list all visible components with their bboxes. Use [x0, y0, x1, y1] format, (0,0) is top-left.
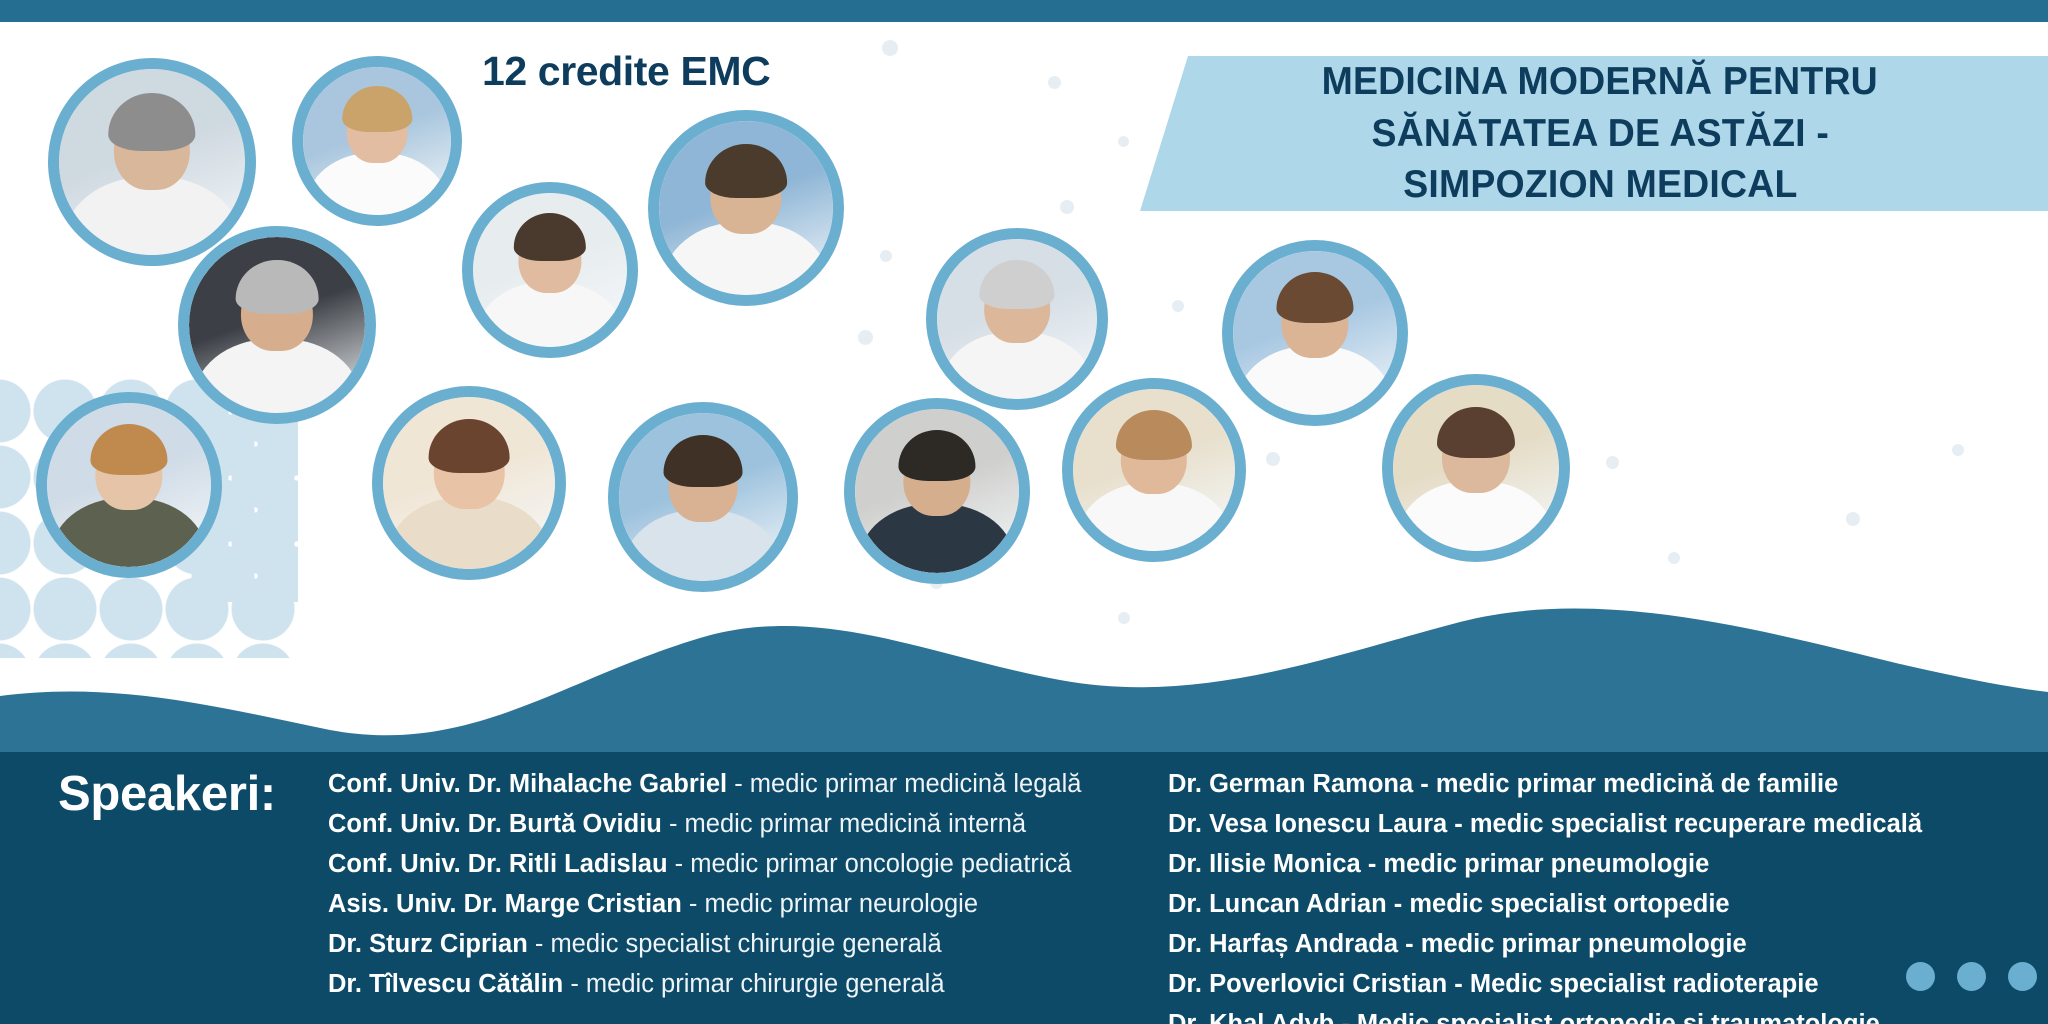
speaker-name: Asis. Univ. Dr. Marge Cristian	[328, 890, 682, 918]
portrait-photo	[1233, 251, 1397, 415]
speaker-specialty: - medic primar neurologie	[682, 890, 978, 918]
portrait-1	[48, 58, 256, 266]
top-accent-bar	[0, 0, 2048, 22]
speaker-entry: Dr. Harfaș Andrada - medic primar pneumo…	[1168, 924, 1922, 964]
portrait-photo	[937, 239, 1097, 399]
portrait-photo	[619, 413, 787, 581]
speaker-specialty: - Medic specialist radioterapie	[1447, 970, 1818, 998]
corner-dot	[2008, 962, 2037, 991]
portrait-photo	[383, 397, 555, 569]
portrait-photo	[1073, 389, 1235, 551]
portrait-4	[648, 110, 844, 306]
speaker-specialty: - medic specialist chirurgie generală	[528, 930, 942, 958]
speaker-entry: Conf. Univ. Dr. Burtă Ovidiu - medic pri…	[328, 804, 1081, 844]
scatter-dot	[882, 40, 898, 56]
speaker-specialty: - medic primar oncologie pediatrică	[668, 850, 1072, 878]
speaker-name: Conf. Univ. Dr. Burtă Ovidiu	[328, 810, 662, 838]
speaker-specialty: - medic primar medicină legală	[727, 770, 1081, 798]
speaker-entry: Dr. Poverlovici Cristian - Medic special…	[1168, 964, 1922, 1004]
speaker-entry: Dr. Vesa Ionescu Laura - medic specialis…	[1168, 804, 1922, 844]
speaker-name: Dr. Ilisie Monica	[1168, 850, 1361, 878]
portrait-12	[1222, 240, 1408, 426]
portrait-photo	[59, 69, 245, 255]
speaker-entry: Asis. Univ. Dr. Marge Cristian - medic p…	[328, 884, 1081, 924]
speaker-entry: Dr. Khal Adyb - Medic specialist ortoped…	[1168, 1004, 1922, 1024]
scatter-dot	[1060, 200, 1074, 214]
portrait-11	[1062, 378, 1246, 562]
speaker-entry: Dr. Luncan Adrian - medic specialist ort…	[1168, 884, 1922, 924]
portrait-9	[844, 398, 1030, 584]
speaker-entry: Conf. Univ. Dr. Ritli Ladislau - medic p…	[328, 844, 1081, 884]
portrait-photo	[659, 121, 833, 295]
title-line-3: SIMPOZION MEDICAL	[1403, 160, 1797, 210]
speaker-name: Conf. Univ. Dr. Mihalache Gabriel	[328, 770, 727, 798]
scatter-dot	[1118, 612, 1130, 624]
event-title: MEDICINA MODERNĂ PENTRU SĂNĂTATEA DE AST…	[1160, 56, 2040, 211]
speaker-name: Dr. Poverlovici Cristian	[1168, 970, 1447, 998]
portrait-photo	[303, 67, 451, 215]
speaker-entry: Dr. German Ramona - medic primar medicin…	[1168, 764, 1922, 804]
speaker-specialty: - medic primar chirurgie generală	[563, 970, 944, 998]
portrait-7	[372, 386, 566, 580]
promo-poster: 12 credite EMC MEDICINA MODERNĂ PENTRU S…	[0, 0, 2048, 1024]
scatter-dot	[1048, 76, 1061, 89]
title-line-2: SĂNĂTATEA DE ASTĂZI -	[1371, 109, 1828, 159]
portrait-6	[36, 392, 222, 578]
title-line-1: MEDICINA MODERNĂ PENTRU	[1322, 57, 1878, 107]
speaker-specialty: - medic specialist recuperare medicală	[1447, 810, 1922, 838]
scatter-dot	[1668, 552, 1680, 564]
portrait-10	[926, 228, 1108, 410]
speaker-name: Dr. Tîlvescu Cătălin	[328, 970, 563, 998]
speaker-specialty: - medic primar pneumologie	[1398, 930, 1747, 958]
portrait-13	[1382, 374, 1570, 562]
speakers-label: Speakeri:	[58, 766, 276, 822]
portrait-3	[462, 182, 638, 358]
portrait-photo	[189, 237, 365, 413]
speaker-specialty: - medic primar medicină internă	[662, 810, 1026, 838]
speaker-entry: Dr. Sturz Ciprian - medic specialist chi…	[328, 924, 1081, 964]
scatter-dot	[1118, 136, 1129, 147]
speaker-entry: Dr. Ilisie Monica - medic primar pneumol…	[1168, 844, 1922, 884]
speaker-name: Dr. Luncan Adrian	[1168, 890, 1387, 918]
portrait-photo	[1393, 385, 1559, 551]
corner-dot	[1906, 962, 1935, 991]
speaker-specialty: - Medic specialist ortopedie și traumato…	[1334, 1010, 1880, 1024]
speaker-name: Dr. German Ramona	[1168, 770, 1413, 798]
scatter-dot	[1266, 452, 1280, 466]
portrait-5	[178, 226, 376, 424]
speaker-name: Conf. Univ. Dr. Ritli Ladislau	[328, 850, 668, 878]
credits-badge: 12 credite EMC	[482, 48, 770, 95]
wave-shape	[0, 560, 2048, 760]
speaker-entry: Conf. Univ. Dr. Mihalache Gabriel - medi…	[328, 764, 1081, 804]
portrait-photo	[473, 193, 627, 347]
scatter-dot	[1952, 444, 1964, 456]
speaker-entry: Dr. Tîlvescu Cătălin - medic primar chir…	[328, 964, 1081, 1004]
scatter-dot	[1846, 512, 1860, 526]
speaker-name: Dr. Khal Adyb	[1168, 1010, 1334, 1024]
scatter-dot	[1172, 300, 1184, 312]
scatter-dot	[880, 250, 892, 262]
corner-dot	[1957, 962, 1986, 991]
speaker-specialty: - medic primar pneumologie	[1361, 850, 1710, 878]
speakers-column-left: Conf. Univ. Dr. Mihalache Gabriel - medi…	[328, 764, 1081, 1004]
portrait-8	[608, 402, 798, 592]
portrait-photo	[47, 403, 211, 567]
speaker-name: Dr. Sturz Ciprian	[328, 930, 528, 958]
speaker-specialty: - medic specialist ortopedie	[1387, 890, 1730, 918]
speaker-specialty: - medic primar medicină de familie	[1413, 770, 1838, 798]
portrait-photo	[855, 409, 1019, 573]
speakers-column-right: Dr. German Ramona - medic primar medicin…	[1168, 764, 1922, 1024]
speaker-name: Dr. Vesa Ionescu Laura	[1168, 810, 1447, 838]
scatter-dot	[858, 330, 873, 345]
corner-dot-decoration	[1906, 962, 2037, 991]
speaker-name: Dr. Harfaș Andrada	[1168, 930, 1398, 958]
scatter-dot	[1606, 456, 1619, 469]
portrait-2	[292, 56, 462, 226]
